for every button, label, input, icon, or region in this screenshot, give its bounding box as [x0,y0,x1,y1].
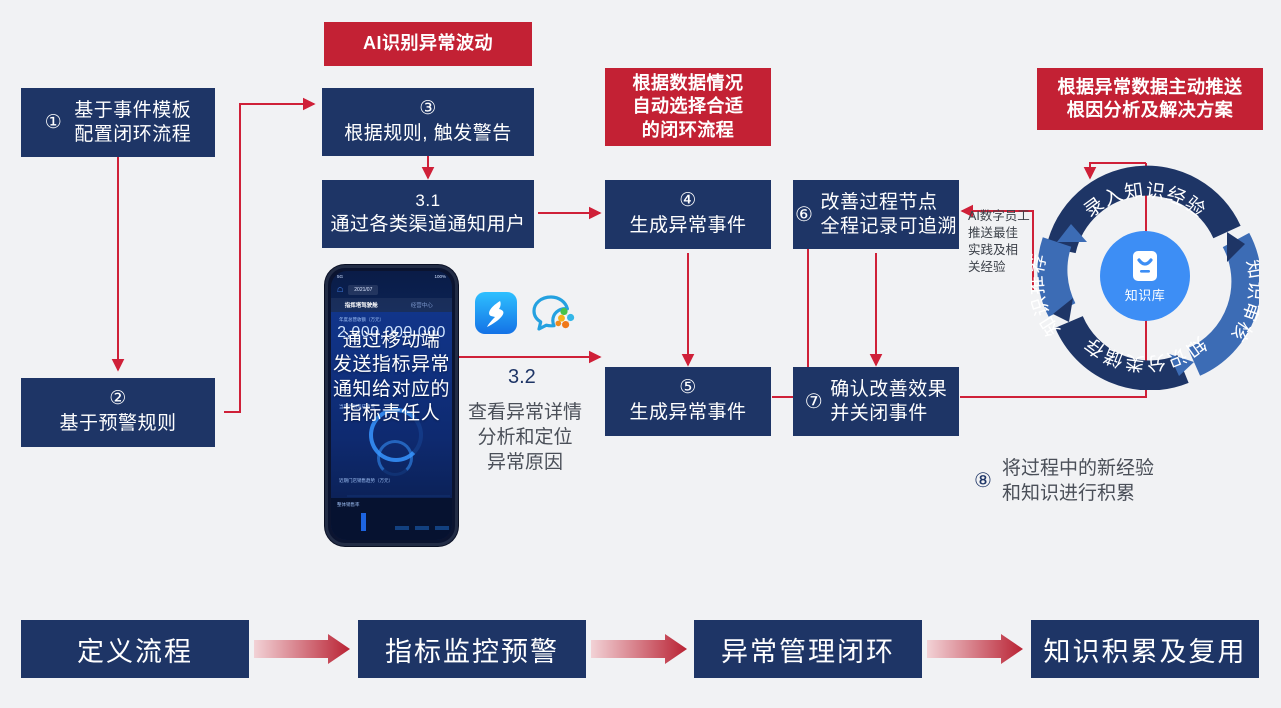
callout-auto-flow: 根据数据情况 自动选择合适 的闭环流程 [605,68,771,146]
node-2-number: ② [109,389,127,408]
node-31-number: 3.1 [415,192,440,209]
node-6-label: 改善过程节点 全程记录可追溯 [820,191,957,237]
ribbon-arrow-1 [591,634,687,669]
node-5-number: ⑤ [679,378,697,397]
node-31-notify-user[interactable]: 3.1 通过各类渠道通知用户 [322,180,534,248]
edge-2-to-3 [224,104,314,412]
node-1-number: ① [45,113,63,132]
node-3-label: 根据规则, 触发警告 [344,122,512,145]
node-6-traceable-record[interactable]: ⑥ 改善过程节点 全程记录可追溯 [793,180,959,249]
phone-tab-1[interactable]: 经营中心 [392,301,453,309]
phone-signal-label: 5G [337,274,343,279]
wecom-icon[interactable] [528,290,576,343]
callout-push-rootcause-label: 根据异常数据主动推送 根因分析及解决方案 [1058,76,1243,123]
callout-auto-flow-label: 根据数据情况 自动选择合适 的闭环流程 [633,72,744,142]
ribbon-arrow-2 [927,634,1023,669]
ribbon-stage-0[interactable]: 定义流程 [21,620,249,678]
ribbon-arrow-0 [254,634,350,669]
phone-date-field[interactable]: 2021/07 [348,285,378,295]
note-32-number: 3.2 [508,367,536,387]
node-5-label: 生成异常事件 [629,401,746,424]
node-31-label: 通过各类渠道通知用户 [330,213,525,236]
phone-kpi-label: 年度总营收额（万元） [339,317,384,323]
phone-progress-ring-2 [377,440,413,476]
node-5-create-event[interactable]: ⑤ 生成异常事件 [605,367,771,436]
phone-screen: 5G 100% ☖ 2021/07 指挥塔驾驶舱 经营中心 年度总营收额（万元）… [331,271,452,540]
node-7-confirm-close[interactable]: ⑦ 确认改善效果 并关闭事件 [793,367,959,436]
dingtalk-icon[interactable] [475,292,517,339]
ribbon-stage-2-label: 异常管理闭环 [721,630,895,669]
note-32-text: 查看异常详情 分析和定位 异常原因 [455,400,595,475]
ribbon-stage-1-label: 指标监控预警 [385,630,559,669]
wheel-segment-left-band [1052,242,1062,310]
node-4-number: ④ [679,191,697,210]
phone-tab-0[interactable]: 指挥塔驾驶舱 [331,301,392,309]
node-1-label: 基于事件模板 配置闭环流程 [74,99,191,145]
knowledge-robot-icon [1130,249,1160,283]
node-3-trigger-alert[interactable]: ③ 根据规则, 触发警告 [322,88,534,156]
note-ai-staff: AI数字员工 推送最佳 实践及相 关经验 [968,208,1032,276]
node-4-label: 生成异常事件 [629,214,746,237]
diagram-canvas: AI识别异常波动 根据数据情况 自动选择合适 的闭环流程 根据异常数据主动推送 … [0,0,1281,708]
phone-section-2-label: 近期门店销售趋势（万元） [339,478,393,484]
home-icon[interactable]: ☖ [337,286,343,294]
mobile-phone-mockup: 5G 100% ☖ 2021/07 指挥塔驾驶舱 经营中心 年度总营收额（万元）… [325,265,458,546]
phone-overlay-message: 通过移动端 发送指标异常 通知给对应的 指标责任人 [331,329,452,426]
phone-header: ☖ 2021/07 [331,283,452,297]
ribbon-stage-1[interactable]: 指标监控预警 [358,620,586,678]
node-7-label: 确认改善效果 并关闭事件 [830,378,947,424]
note-8-text: 将过程中的新经验 和知识进行积累 [1002,456,1232,506]
node-2-alert-rule[interactable]: ② 基于预警规则 [21,378,215,447]
ribbon-stage-3-label: 知识积累及复用 [1044,630,1247,669]
phone-status-bar: 5G 100% [331,271,452,282]
phone-tabs: 指挥塔驾驶舱 经营中心 [331,298,452,312]
phone-bottom-panel: 整体销售率 [331,498,452,540]
ribbon-stage-2[interactable]: 异常管理闭环 [694,620,922,678]
node-6-number: ⑥ [795,205,813,225]
node-2-label: 基于预警规则 [59,412,176,435]
callout-ai-detect: AI识别异常波动 [324,22,532,66]
ribbon-stage-0-label: 定义流程 [77,630,193,669]
callout-push-rootcause: 根据异常数据主动推送 根因分析及解决方案 [1037,68,1263,130]
callout-ai-detect-label: AI识别异常波动 [363,32,493,55]
phone-section-3-label: 整体销售率 [337,502,360,508]
phone-battery-label: 100% [434,274,446,279]
knowledge-cycle-wheel: 录入知识经验 知识审核 知识分类储存 知识推荐 [1031,162,1259,390]
node-3-number: ③ [419,99,437,118]
ribbon-stage-3[interactable]: 知识积累及复用 [1031,620,1259,678]
note-8-number: ⑧ [974,471,992,491]
node-1-event-template[interactable]: ① 基于事件模板 配置闭环流程 [21,88,215,157]
node-4-create-event[interactable]: ④ 生成异常事件 [605,180,771,249]
node-7-number: ⑦ [805,392,823,412]
knowledge-base-center[interactable]: 知识库 [1100,231,1190,321]
knowledge-base-label: 知识库 [1125,285,1166,304]
